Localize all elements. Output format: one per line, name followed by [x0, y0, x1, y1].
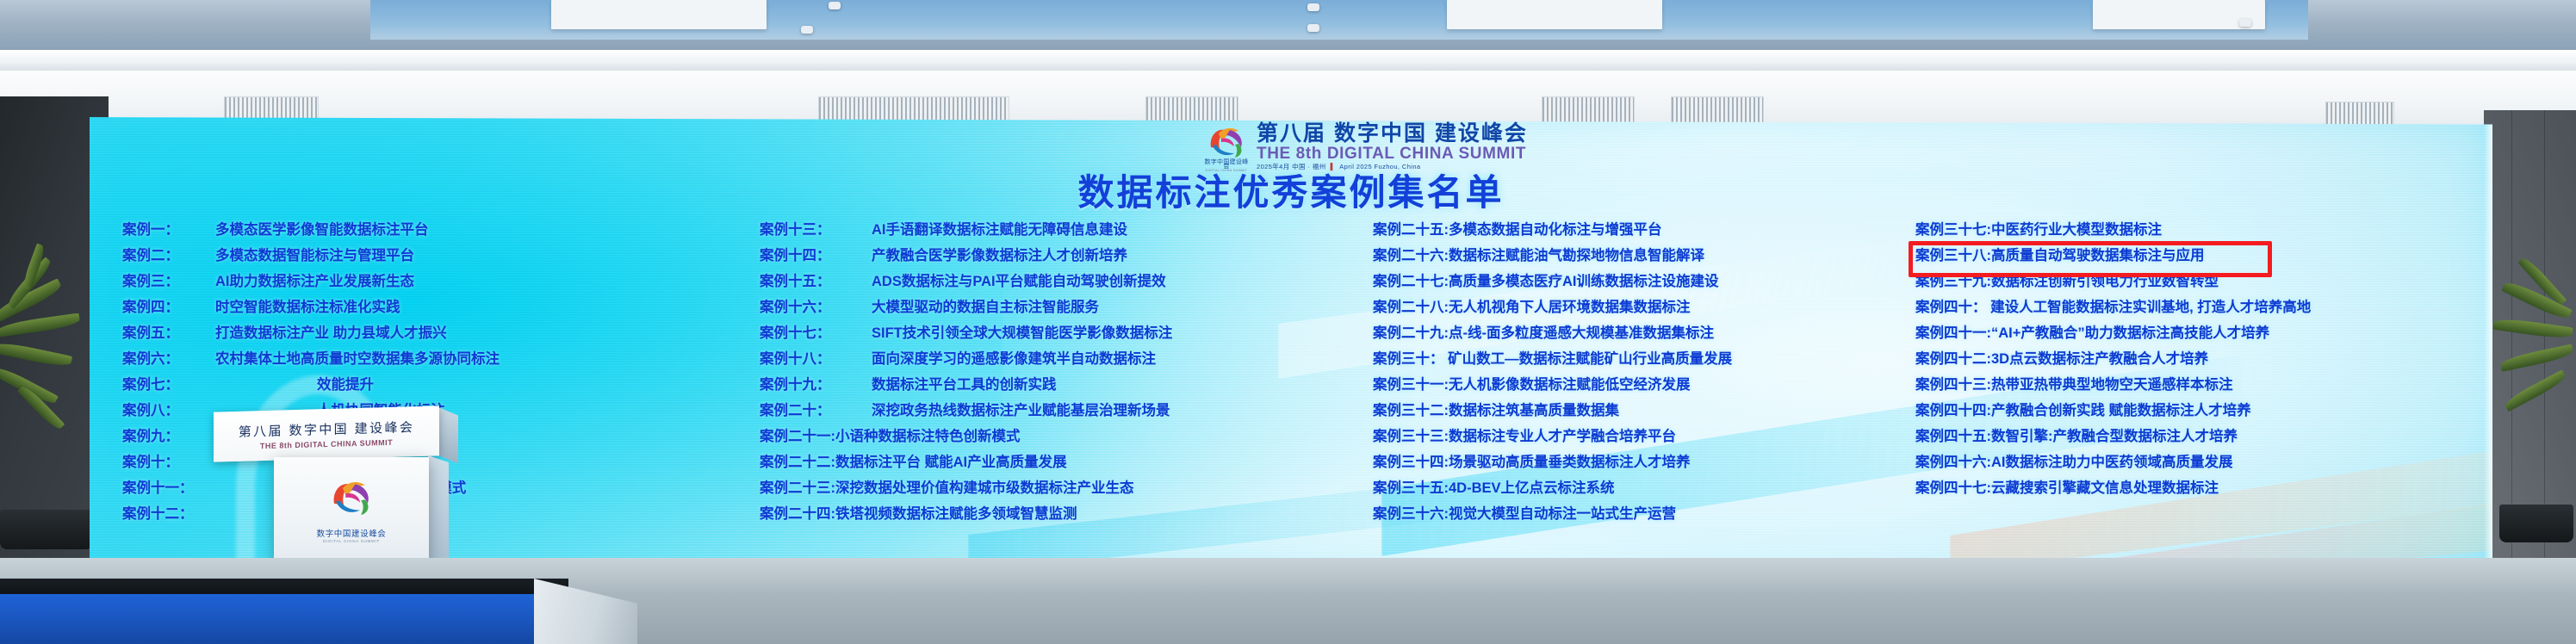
- case-title: 案例四十七:云藏搜索引擎藏文信息处理数据标注: [1915, 475, 2219, 501]
- page-title: 数据标注优秀案例集名单: [90, 164, 2492, 216]
- ceiling-beam: [0, 50, 2576, 72]
- case-title: SIFT技术引领全球大规模智能医学影像数据标注: [872, 320, 1172, 346]
- case-number: 案例七：: [122, 372, 215, 398]
- case-number: 案例十四：: [760, 243, 872, 269]
- case-number: 案例十六：: [760, 294, 872, 320]
- case-row: 案例七：效能提升: [122, 372, 691, 398]
- case-row: 案例二十：深挖政务热线数据标注产业赋能基层治理新场景: [760, 398, 1345, 424]
- case-row: 案例三十四:场景驱动高质量垂类数据标注人才培养: [1373, 449, 1958, 475]
- case-title: 产教融合医学影像数据标注人才创新培养: [872, 243, 1127, 269]
- case-row: 案例二十九:点-线-面多粒度遥感大规模基准数据集标注: [1373, 320, 1958, 346]
- podium-banner-en: THE 8th DIGITAL CHINA SUMMIT: [260, 437, 393, 449]
- case-number: 案例十八：: [760, 346, 872, 372]
- case-row: 案例四十三:热带亚热带典型地物空天遥感样本标注: [1915, 372, 2501, 398]
- ceiling-light-panel-2: [1447, 0, 1662, 29]
- podium-body: 数字中国建设峰会 DIGITAL CHINA SUMMIT: [274, 457, 429, 562]
- podium-body-side: [428, 455, 449, 564]
- podium-logo-cn: 数字中国建设峰会: [317, 529, 387, 539]
- case-title: 案例三十四:场景驱动高质量垂类数据标注人才培养: [1373, 449, 1691, 475]
- case-title: 案例二十一:小语种数据标注特色创新模式: [760, 424, 1021, 449]
- case-title: 案例四十二:3D点云数据标注产教融合人才培养: [1915, 346, 2208, 372]
- ceiling-spot-2: [801, 26, 813, 34]
- case-number: 案例二：: [122, 243, 215, 269]
- case-column-4: 案例三十七:中医药行业大模型数据标注案例三十八:高质量自动驾驶数据集标注与应用案…: [1915, 217, 2501, 501]
- case-number: 案例十九：: [760, 372, 872, 398]
- case-row: 案例二十七:高质量多模态医疗AI训练数据标注设施建设: [1373, 269, 1958, 294]
- case-title: 大模型驱动的数据自主标注智能服务: [872, 294, 1099, 320]
- case-row: 案例三十八:高质量自动驾驶数据集标注与应用: [1915, 243, 2501, 269]
- case-row: 案例二：多模态数据智能标注与管理平台: [122, 243, 691, 269]
- conference-hall-scene: 数字中国建设峰会 DIGITAL CHINA SUMMIT 第八届 数字中国 建…: [0, 0, 2576, 644]
- case-title: 多模态数据智能标注与管理平台: [215, 243, 414, 269]
- case-title: 案例三十： 矿山数工—数据标注赋能矿山行业高质量发展: [1373, 346, 1732, 372]
- case-title: 案例四十六:AI数据标注助力中医药领域高质量发展: [1915, 449, 2233, 475]
- case-number: 案例八：: [122, 398, 215, 424]
- case-row: 案例十五：ADS数据标注与PAI平台赋能自动驾驶创新提效: [760, 269, 1345, 294]
- case-title: 案例二十六:数据标注赋能油气勘探地物信息智能解译: [1373, 243, 1704, 269]
- case-number: 案例十五：: [760, 269, 872, 294]
- case-row: 案例二十二:数据标注平台 赋能AI产业高质量发展: [760, 449, 1345, 475]
- case-title: 面向深度学习的遥感影像建筑半自动数据标注: [872, 346, 1156, 372]
- case-number: 案例二十：: [760, 398, 872, 424]
- case-row: 案例三：AI助力数据标注产业发展新生态: [122, 269, 691, 294]
- case-row: 案例四十五:数智引擎:产教融合型数据标注人才培养: [1915, 424, 2501, 449]
- case-row: 案例二十八:无人机视角下人居环境数据集数据标注: [1373, 294, 1958, 320]
- podium-banner: 第八届 数字中国 建设峰会 THE 8th DIGITAL CHINA SUMM…: [214, 406, 439, 461]
- case-row: 案例三十九:数据标注创新引领电力行业数智转型: [1915, 269, 2501, 294]
- case-row: 案例四十七:云藏搜索引擎藏文信息处理数据标注: [1915, 475, 2501, 501]
- case-title: 农村集体土地高质量时空数据集多源协同标注: [215, 346, 500, 372]
- podium-banner-cn: 第八届 数字中国 建设峰会: [239, 418, 415, 441]
- case-title: ADS数据标注与PAI平台赋能自动驾驶创新提效: [872, 269, 1166, 294]
- case-row: 案例三十一:无人机影像数据标注赋能低空经济发展: [1373, 372, 1958, 398]
- ceiling-vent-5: [1671, 96, 1764, 126]
- case-number: 案例五：: [122, 320, 215, 346]
- stage-front-panel: [0, 594, 551, 644]
- case-title: AI手语翻译数据标注赋能无障碍信息建设: [872, 217, 1127, 243]
- summit-logo-mark: 数字中国建设峰会 DIGITAL CHINA SUMMIT: [1204, 125, 1249, 168]
- ceiling-light-panel-1: [551, 0, 767, 29]
- case-row: 案例十八：面向深度学习的遥感影像建筑半自动数据标注: [760, 346, 1345, 372]
- case-title: 案例二十九:点-线-面多粒度遥感大规模基准数据集标注: [1373, 320, 1714, 346]
- case-row: 案例三十六:视觉大模型自动标注一站式生产运营: [1373, 501, 1958, 527]
- case-title: 案例二十三:深挖数据处理价值构建城市级数据标注产业生态: [760, 475, 1134, 501]
- case-row: 案例二十五:多模态数据自动化标注与增强平台: [1373, 217, 1958, 243]
- case-row: 案例四：时空智能数据标注标准化实践: [122, 294, 691, 320]
- case-row: 案例四十六:AI数据标注助力中医药领域高质量发展: [1915, 449, 2501, 475]
- case-row: 案例十九：数据标注平台工具的创新实践: [760, 372, 1345, 398]
- case-number: 案例九：: [122, 424, 215, 449]
- case-number: 案例十三：: [760, 217, 872, 243]
- case-title: 案例三十二:数据标注筑基高质量数据集: [1373, 398, 1619, 424]
- ceiling-vent-4: [1542, 96, 1635, 126]
- case-title: 案例三十八:高质量自动驾驶数据集标注与应用: [1915, 243, 2205, 269]
- case-title: 深挖政务热线数据标注产业赋能基层治理新场景: [872, 398, 1170, 424]
- case-title: 打造数据标注产业 助力县域人才振兴: [215, 320, 447, 346]
- case-row: 案例三十七:中医药行业大模型数据标注: [1915, 217, 2501, 243]
- case-row: 案例十七：SIFT技术引领全球大规模智能医学影像数据标注: [760, 320, 1345, 346]
- case-title: 案例三十一:无人机影像数据标注赋能低空经济发展: [1373, 372, 1691, 398]
- ceiling-spot-5: [2239, 19, 2251, 27]
- ceiling-spot-3: [1307, 3, 1319, 11]
- case-row: 案例十四：产教融合医学影像数据标注人才创新培养: [760, 243, 1345, 269]
- case-number: 案例十二：: [122, 501, 215, 527]
- podium: 第八届 数字中国 建设峰会 THE 8th DIGITAL CHINA SUMM…: [220, 409, 460, 581]
- case-row: 案例三十： 矿山数工—数据标注赋能矿山行业高质量发展: [1373, 346, 1958, 372]
- case-title: 多模态医学影像智能数据标注平台: [215, 217, 429, 243]
- case-number: 案例十七：: [760, 320, 872, 346]
- case-title: 数据标注平台工具的创新实践: [872, 372, 1057, 398]
- case-title: 案例四十四:产教融合创新实践 赋能数据标注人才培养: [1915, 398, 2251, 424]
- case-title: 案例三十九:数据标注创新引领电力行业数智转型: [1915, 269, 2219, 294]
- case-row: 案例四十一:“AI+产教融合”助力数据标注高技能人才培养: [1915, 320, 2501, 346]
- summit-title-en: THE 8th DIGITAL CHINA SUMMIT: [1257, 145, 1528, 163]
- case-row: 案例十六：大模型驱动的数据自主标注智能服务: [760, 294, 1345, 320]
- case-title: 案例二十二:数据标注平台 赋能AI产业高质量发展: [760, 449, 1067, 475]
- case-row: 案例一：多模态医学影像智能数据标注平台: [122, 217, 691, 243]
- case-row: 案例五：打造数据标注产业 助力县域人才振兴: [122, 320, 691, 346]
- case-title: 案例三十三:数据标注专业人才产学融合培养平台: [1373, 424, 1676, 449]
- case-title: 案例三十六:视觉大模型自动标注一站式生产运营: [1373, 501, 1676, 527]
- case-title: 案例四十： 建设人工智能数据标注实训基地, 打造人才培养高地: [1915, 294, 2311, 320]
- ceiling-vent-6: [2325, 102, 2394, 127]
- case-row: 案例十三：AI手语翻译数据标注赋能无障碍信息建设: [760, 217, 1345, 243]
- case-row: 案例四十： 建设人工智能数据标注实训基地, 打造人才培养高地: [1915, 294, 2501, 320]
- case-number: 案例十：: [122, 449, 215, 475]
- podium-logo-en: DIGITAL CHINA SUMMIT: [317, 539, 387, 543]
- ceiling-spot-4: [1307, 24, 1319, 32]
- case-title: 案例二十八:无人机视角下人居环境数据集数据标注: [1373, 294, 1691, 320]
- case-title: 案例三十五:4D-BEV上亿点云标注系统: [1373, 475, 1615, 501]
- case-title: 案例四十五:数智引擎:产教融合型数据标注人才培养: [1915, 424, 2238, 449]
- case-title: 案例三十七:中医药行业大模型数据标注: [1915, 217, 2162, 243]
- case-row: 案例二十四:铁塔视频数据标注赋能多领域智慧监测: [760, 501, 1345, 527]
- podium-logo-caption: 数字中国建设峰会 DIGITAL CHINA SUMMIT: [317, 529, 387, 543]
- case-title: 时空智能数据标注标准化实践: [215, 294, 400, 320]
- case-row: 案例二十六:数据标注赋能油气勘探地物信息智能解译: [1373, 243, 1958, 269]
- summit-title-cn: 第八届 数字中国 建设峰会: [1257, 122, 1528, 145]
- case-row: 案例六：农村集体土地高质量时空数据集多源协同标注: [122, 346, 691, 372]
- case-title: 案例四十一:“AI+产教融合”助力数据标注高技能人才培养: [1915, 320, 2269, 346]
- case-number: 案例六：: [122, 346, 215, 372]
- case-row: 案例四十四:产教融合创新实践 赋能数据标注人才培养: [1915, 398, 2501, 424]
- case-number: 案例三：: [122, 269, 215, 294]
- case-title: 案例二十七:高质量多模态医疗AI训练数据标注设施建设: [1373, 269, 1719, 294]
- podium-swirl-icon: [326, 476, 376, 524]
- case-number: 案例四：: [122, 294, 215, 320]
- case-row: 案例三十三:数据标注专业人才产学融合培养平台: [1373, 424, 1958, 449]
- case-title: 案例二十五:多模态数据自动化标注与增强平台: [1373, 217, 1662, 243]
- case-column-3: 案例二十五:多模态数据自动化标注与增强平台案例二十六:数据标注赋能油气勘探地物信…: [1373, 217, 1958, 527]
- case-row: 案例三十五:4D-BEV上亿点云标注系统: [1373, 475, 1958, 501]
- case-row: 案例二十三:深挖数据处理价值构建城市级数据标注产业生态: [760, 475, 1345, 501]
- case-title: 案例四十三:热带亚热带典型地物空天遥感样本标注: [1915, 372, 2233, 398]
- case-row: 案例二十一:小语种数据标注特色创新模式: [760, 424, 1345, 449]
- case-title: 案例二十四:铁塔视频数据标注赋能多领域智慧监测: [760, 501, 1077, 527]
- case-number: 案例十一：: [122, 475, 215, 501]
- case-row: 案例三十二:数据标注筑基高质量数据集: [1373, 398, 1958, 424]
- case-column-2: 案例十三：AI手语翻译数据标注赋能无障碍信息建设案例十四：产教融合医学影像数据标…: [760, 217, 1345, 527]
- case-row: 案例四十二:3D点云数据标注产教融合人才培养: [1915, 346, 2501, 372]
- podium-banner-side: [439, 408, 458, 464]
- case-title: 效能提升: [215, 372, 374, 398]
- ceiling-spot-1: [829, 2, 841, 9]
- case-title: AI助力数据标注产业发展新生态: [215, 269, 414, 294]
- case-number: 案例一：: [122, 217, 215, 243]
